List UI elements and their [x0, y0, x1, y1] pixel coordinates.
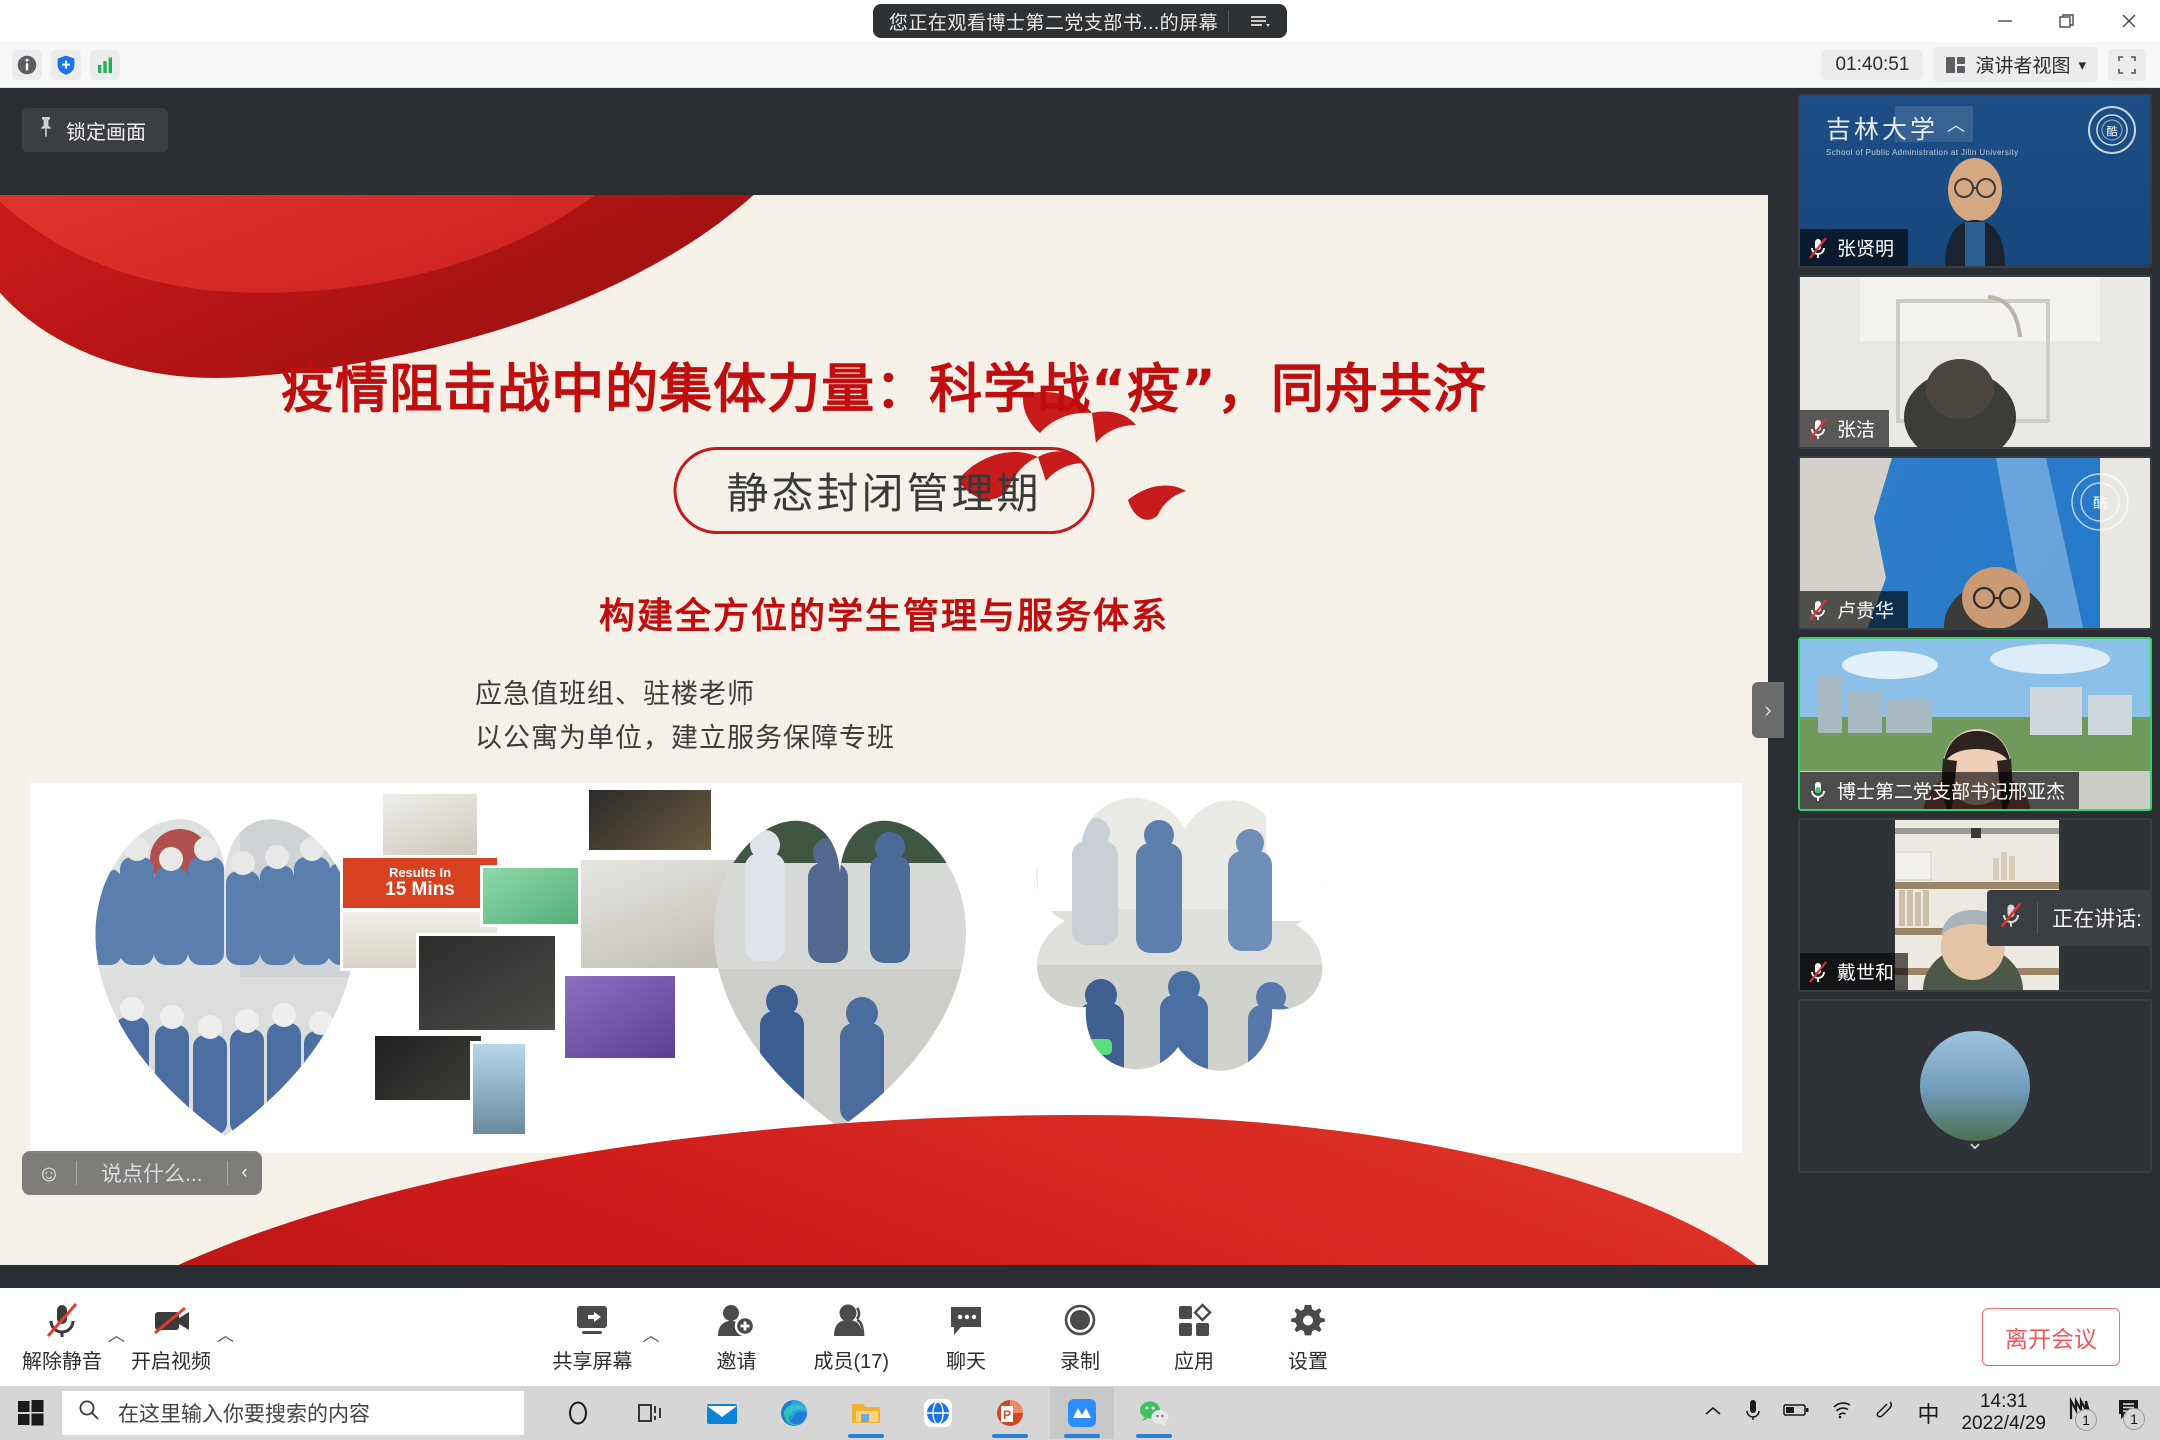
chat-button[interactable]: 聊天 — [929, 1300, 1003, 1374]
mic-off-icon — [1808, 417, 1828, 441]
record-label: 录制 — [1060, 1345, 1100, 1374]
invite-icon — [716, 1300, 756, 1340]
participant-silhouette — [1905, 156, 2045, 266]
top-toolbar-left — [0, 50, 120, 80]
clock-time: 14:31 — [1961, 1391, 2046, 1413]
screen-share-notice-text: 您正在观看博士第二党支部书...的屏幕 — [889, 8, 1218, 35]
video-tile-zhangxianming[interactable]: 吉林大学 School of Public Administration at … — [1798, 94, 2152, 268]
battery-icon[interactable] — [1783, 1402, 1809, 1424]
leave-meeting-button[interactable]: 离开会议 — [1982, 1308, 2120, 1366]
slide-badge: 静态封闭管理期 — [673, 447, 1094, 534]
chevron-left-icon[interactable]: ‹ — [228, 1162, 262, 1184]
windows-logo-icon[interactable] — [0, 1386, 62, 1440]
share-options-caret-icon[interactable]: ︿ — [642, 1321, 659, 1346]
talking-indicator-chip: 正在讲话: — [1987, 890, 2152, 946]
info-icon[interactable] — [12, 50, 42, 80]
collage-caption-results: Results In — [389, 866, 451, 880]
participants-label: 成员(17) — [813, 1345, 889, 1374]
notification-count: 1 — [2123, 1408, 2145, 1430]
search-input[interactable]: 在这里输入你要搜索的内容 — [62, 1391, 524, 1435]
participant-name: 张贤明 — [1837, 234, 1894, 261]
chevron-down-icon[interactable]: ⌄ — [1966, 1129, 1984, 1155]
apps-icon — [1174, 1300, 1214, 1340]
gear-icon — [1288, 1300, 1328, 1340]
chevron-down-icon: ▾ — [2078, 56, 2086, 74]
lock-screen-label: 锁定画面 — [66, 116, 146, 145]
meeting-bottom-toolbar: 解除静音 ︿ 开启视频 ︿ 共享屏幕 ︿ 邀请 — [0, 1288, 2160, 1386]
close-button[interactable] — [2098, 0, 2160, 42]
running-indicator — [1136, 1434, 1172, 1438]
collage-photo-purple-cartons — [562, 973, 678, 1061]
cortana-icon[interactable] — [546, 1387, 610, 1439]
wifi-icon[interactable] — [1831, 1401, 1853, 1425]
zoom-icon[interactable] — [1050, 1387, 1114, 1439]
record-icon — [1060, 1300, 1100, 1340]
collage-heart-volunteers — [690, 793, 990, 1133]
slide-bullet-2: 以公寓为单位，建立服务保障专班 — [475, 717, 895, 761]
participant-video-strip: 吉林大学 School of Public Administration at … — [1790, 88, 2160, 1288]
start-video-button[interactable]: 开启视频 — [131, 1300, 211, 1374]
avatar — [1920, 1031, 2030, 1141]
record-button[interactable]: 录制 — [1043, 1300, 1117, 1374]
apps-label: 应用 — [1174, 1345, 1214, 1374]
collage-photo-test-kit: Results In 15 Mins — [340, 855, 500, 911]
share-screen-button[interactable]: 共享屏幕 — [552, 1300, 632, 1374]
chevron-up-icon[interactable] — [1703, 1402, 1723, 1424]
pin-icon — [38, 116, 54, 144]
participant-name-badge: 卢贵华 — [1800, 591, 1908, 628]
screen-share-notice[interactable]: 您正在观看博士第二党支部书...的屏幕 — [873, 4, 1287, 38]
microphone-icon[interactable] — [1745, 1398, 1761, 1428]
mic-off-icon — [1999, 901, 2023, 935]
top-toolbar-right: 01:40:51 演讲者视图 ▾ — [1821, 47, 2160, 82]
view-mode-label: 演讲者视图 — [1975, 51, 2070, 78]
fullscreen-button[interactable] — [2108, 49, 2146, 81]
slide-bullets: 应急值班组、驻楼老师 以公寓为单位，建立服务保障专班 — [475, 673, 895, 760]
running-indicator — [848, 1434, 884, 1438]
toolbar-left-group: 解除静音 ︿ 开启视频 ︿ — [0, 1300, 234, 1374]
apps-button[interactable]: 应用 — [1157, 1300, 1231, 1374]
slide-bullet-1: 应急值班组、驻楼老师 — [475, 673, 895, 717]
participant-name: 戴世和 — [1837, 958, 1894, 985]
start-video-label: 开启视频 — [131, 1345, 211, 1374]
slide-title: 疫情阻击战中的集体力量：科学战“疫”，同舟共济 — [0, 347, 1768, 423]
talking-indicator-label: 正在讲话: — [2052, 903, 2142, 933]
video-tile-daishihe[interactable]: 正在讲话: 戴世和 — [1798, 818, 2152, 992]
invite-button[interactable]: 邀请 — [699, 1300, 773, 1374]
collage-photo-snacks — [372, 1033, 484, 1103]
collage-photo-green-bags — [480, 865, 590, 927]
participant-name-badge: 张贤明 — [1800, 229, 1908, 266]
meeting-top-toolbar: 01:40:51 演讲者视图 ▾ — [0, 42, 2160, 88]
video-tile-xingyajie[interactable]: 博士第二党支部书记邢亚杰 — [1798, 637, 2152, 811]
collage-caption-mins: 15 Mins — [385, 880, 455, 900]
invite-label: 邀请 — [716, 1345, 756, 1374]
view-mode-selector[interactable]: 演讲者视图 ▾ — [1933, 47, 2098, 82]
edge-icon[interactable] — [762, 1387, 826, 1439]
task-view-icon[interactable] — [618, 1387, 682, 1439]
jlu-seal-icon: 酷 — [2088, 106, 2136, 154]
mic-off-icon — [1808, 236, 1828, 260]
collage-photo-samples — [416, 933, 558, 1033]
collage-heart-medical-team — [70, 791, 380, 1141]
mic-off-icon — [1808, 960, 1828, 984]
hamburger-icon[interactable] — [1239, 13, 1281, 29]
video-options-caret-icon[interactable]: ︿ — [217, 1321, 234, 1346]
toolbar-right-group: 离开会议 — [1982, 1308, 2160, 1366]
notification-icon[interactable]: 1 — [2116, 1398, 2142, 1428]
speaker-view-icon — [1945, 55, 1967, 75]
svg-text:酷: 酷 — [2107, 125, 2118, 138]
tile-overlay-chip: ︿ — [1895, 106, 1973, 142]
participant-name: 张洁 — [1837, 415, 1875, 442]
clock[interactable]: 14:31 2022/4/29 — [1961, 1391, 2046, 1436]
mic-off-icon — [1808, 598, 1828, 622]
mute-button-label: 解除静音 — [22, 1345, 102, 1374]
system-tray: 中 14:31 2022/4/29 1 1 — [1703, 1391, 2160, 1436]
audio-options-caret-icon[interactable]: ︿ — [108, 1321, 125, 1346]
svg-text:酷: 酷 — [2093, 495, 2107, 511]
participant-name-badge: 博士第二党支部书记邢亚杰 — [1800, 772, 2079, 809]
video-tile-luguihua[interactable]: 酷 卢贵华 — [1798, 456, 2152, 630]
running-indicator — [992, 1434, 1028, 1438]
browser-globe-icon[interactable] — [906, 1387, 970, 1439]
participant-name-badge: 张洁 — [1800, 410, 1889, 447]
shield-icon[interactable] — [51, 50, 81, 80]
mic-on-icon — [1808, 779, 1828, 803]
network-stats-icon[interactable] — [90, 50, 120, 80]
pen-icon[interactable] — [1875, 1400, 1895, 1426]
meeting-stage: 锁定画面 疫情阻击战中的集体力量：科学战“疫”，同舟共济 静态封闭管理期 构建全… — [0, 88, 1790, 1288]
window-title-bar: 您正在观看博士第二党支部书...的屏幕 — [0, 0, 2160, 42]
svg-text:P: P — [1003, 1408, 1011, 1422]
lock-screen-chip[interactable]: 锁定画面 — [22, 108, 168, 152]
chat-label: 聊天 — [946, 1345, 986, 1374]
windows-taskbar: 在这里输入你要搜索的内容 P — [0, 1386, 2160, 1440]
file-explorer-icon[interactable] — [834, 1387, 898, 1439]
participant-name-badge: 戴世和 — [1800, 953, 1908, 990]
minimize-button[interactable] — [1974, 0, 2036, 42]
chat-icon — [946, 1300, 986, 1340]
participant-name: 卢贵华 — [1837, 596, 1894, 623]
share-screen-label: 共享屏幕 — [552, 1345, 632, 1374]
powerpoint-icon[interactable]: P — [978, 1387, 1042, 1439]
search-icon — [78, 1399, 100, 1427]
meeting-timer: 01:40:51 — [1821, 50, 1923, 80]
divider — [2037, 902, 2038, 934]
mail-icon[interactable] — [690, 1387, 754, 1439]
share-screen-icon — [572, 1300, 612, 1340]
toolbar-center-group: 共享屏幕 ︿ 邀请 成员(17) 聊天 录制 — [552, 1300, 1345, 1374]
collage-clover-distribution — [1020, 789, 1350, 1141]
app-badge-icon[interactable]: 1 — [2068, 1397, 2094, 1429]
collage-photo-hand — [470, 1041, 528, 1137]
participants-icon — [831, 1300, 871, 1340]
participant-name: 博士第二党支部书记邢亚杰 — [1837, 777, 2065, 804]
chevron-up-icon: ︿ — [1947, 111, 1965, 137]
divider — [1228, 10, 1229, 32]
settings-label: 设置 — [1288, 1345, 1328, 1374]
shared-slide: 疫情阻击战中的集体力量：科学战“疫”，同舟共济 静态封闭管理期 构建全方位的学生… — [0, 195, 1768, 1265]
collapse-video-panel-handle[interactable]: › — [1752, 682, 1784, 738]
clock-date: 2022/4/29 — [1961, 1413, 2046, 1435]
chat-input-placeholder[interactable]: 说点什么... — [77, 1158, 227, 1188]
ime-indicator[interactable]: 中 — [1917, 1397, 1939, 1429]
taskbar-apps: P — [524, 1387, 1186, 1439]
maximize-button[interactable] — [2036, 0, 2098, 42]
settings-button[interactable]: 设置 — [1271, 1300, 1345, 1374]
search-placeholder: 在这里输入你要搜索的内容 — [118, 1398, 370, 1428]
running-indicator — [1064, 1434, 1100, 1438]
emoji-icon[interactable]: ☺ — [22, 1160, 76, 1187]
wechat-icon[interactable] — [1122, 1387, 1186, 1439]
slide-photo-collage: Results In 15 Mins — [30, 783, 1742, 1153]
slide-subtitle: 构建全方位的学生管理与服务体系 — [0, 587, 1768, 639]
video-tile-zhangjie[interactable]: 张洁 — [1798, 275, 2152, 449]
mute-button[interactable]: 解除静音 — [22, 1300, 102, 1374]
participants-button[interactable]: 成员(17) — [813, 1300, 889, 1374]
video-tile-avatar[interactable]: ⌄ — [1798, 999, 2152, 1173]
mic-off-icon — [42, 1300, 82, 1340]
window-controls — [1974, 0, 2160, 42]
video-off-icon — [149, 1300, 193, 1340]
chat-input-pill[interactable]: ☺ 说点什么... ‹ — [22, 1151, 262, 1195]
app-badge-count: 1 — [2075, 1409, 2097, 1431]
